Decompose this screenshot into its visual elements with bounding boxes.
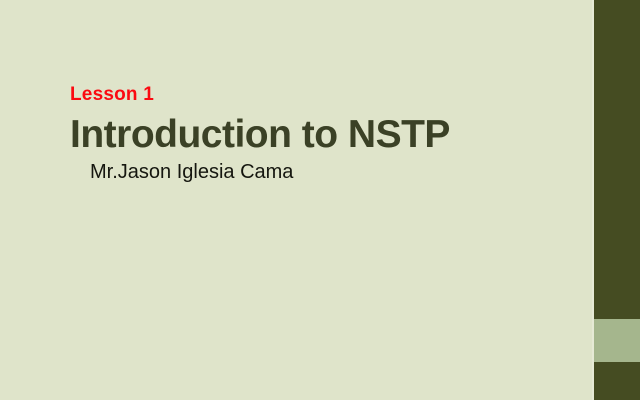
author-byline: Mr.Jason Iglesia Cama [70, 160, 540, 184]
title-text-block: Lesson 1 Introduction to NSTP Mr.Jason I… [70, 84, 540, 184]
side-band-accent-segment [594, 319, 640, 362]
slide-canvas: Lesson 1 Introduction to NSTP Mr.Jason I… [0, 0, 640, 400]
side-band-segment-bottom [594, 362, 640, 400]
lesson-label: Lesson 1 [70, 84, 540, 106]
side-band-segment-top [594, 0, 640, 319]
side-band [594, 0, 640, 400]
page-title: Introduction to NSTP [70, 115, 540, 156]
